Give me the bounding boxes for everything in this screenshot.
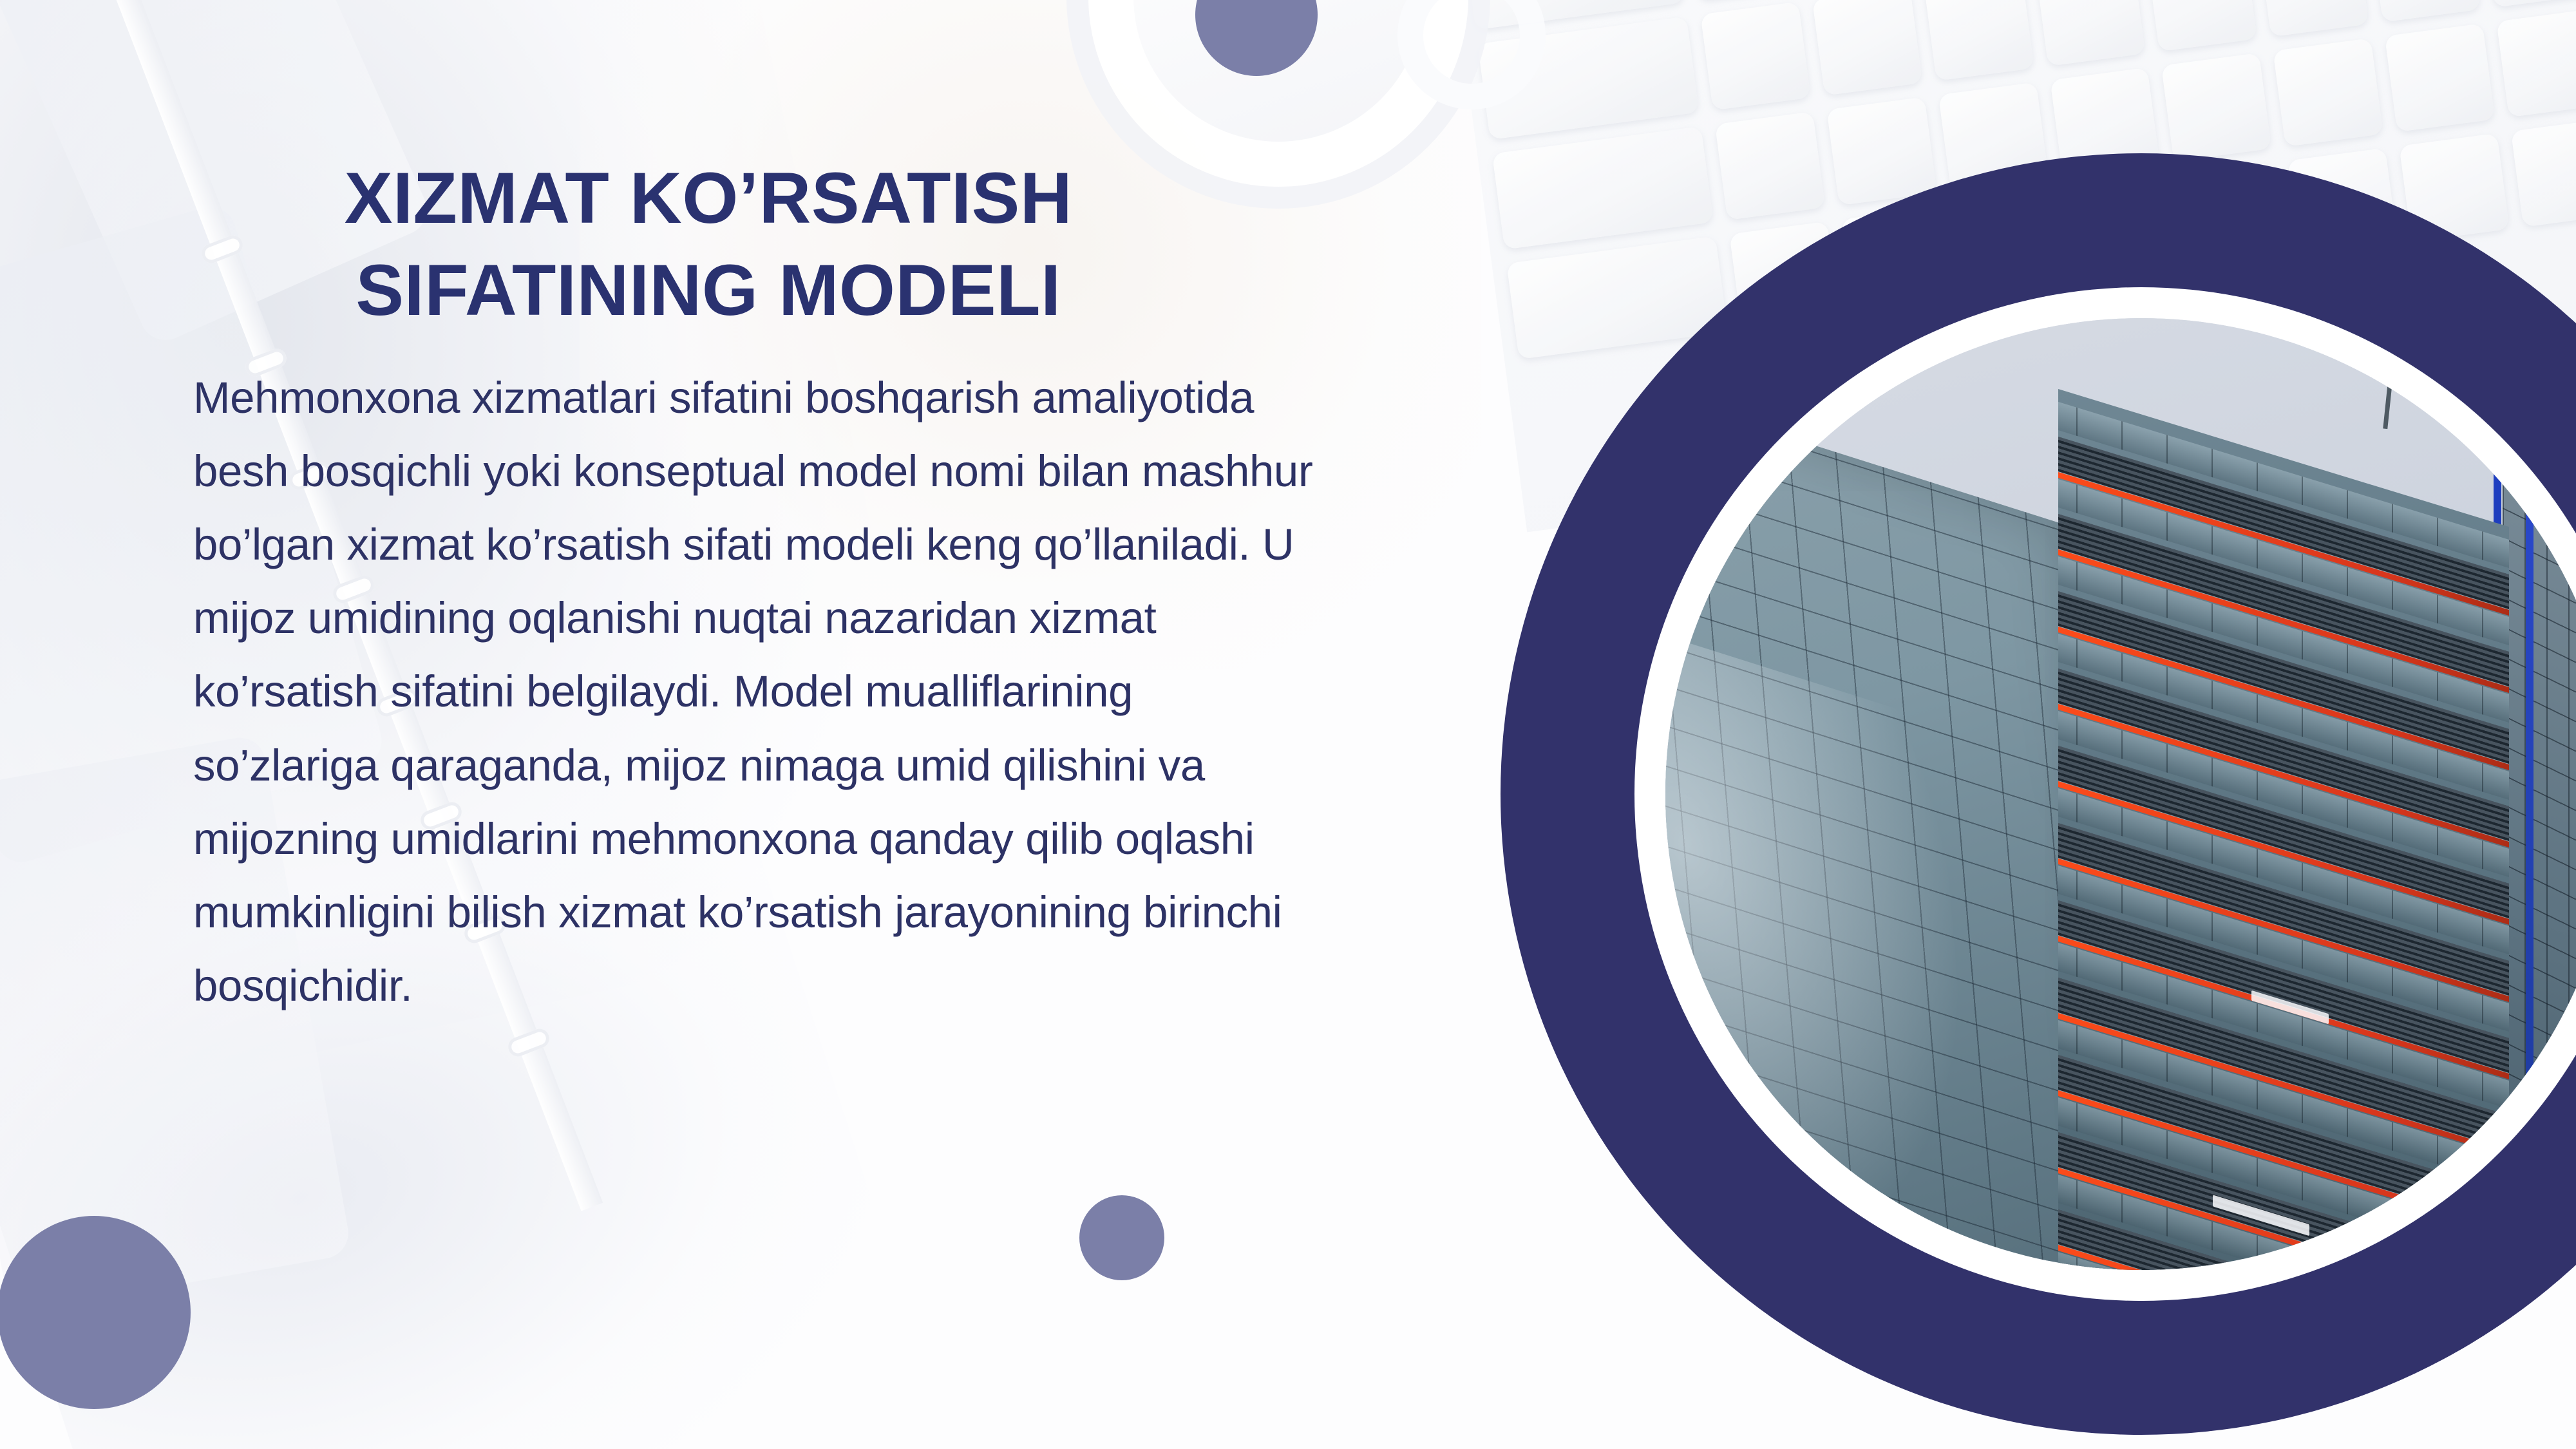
slide-title: XIZMAT KO’RSATISH SIFATINING MODELI (193, 152, 1327, 337)
tower-main-face (2058, 389, 2509, 1270)
accent-dot-bottom-left (0, 1216, 191, 1409)
slide-body-text: Mehmonxona xizmatlari sifatini boshqaris… (193, 361, 1327, 1023)
accent-dot-middle (1079, 1195, 1164, 1280)
presentation-slide: XIZMAT KO’RSATISH SIFATINING MODELI Mehm… (0, 0, 2576, 1449)
skyscraper-photo (1665, 318, 2576, 1270)
tower-return-face (2503, 415, 2576, 1270)
blue-mullion (2526, 428, 2533, 1270)
circular-photo-frame (1501, 153, 2576, 1435)
text-column: XIZMAT KO’RSATISH SIFATINING MODELI Mehm… (193, 152, 1327, 1023)
